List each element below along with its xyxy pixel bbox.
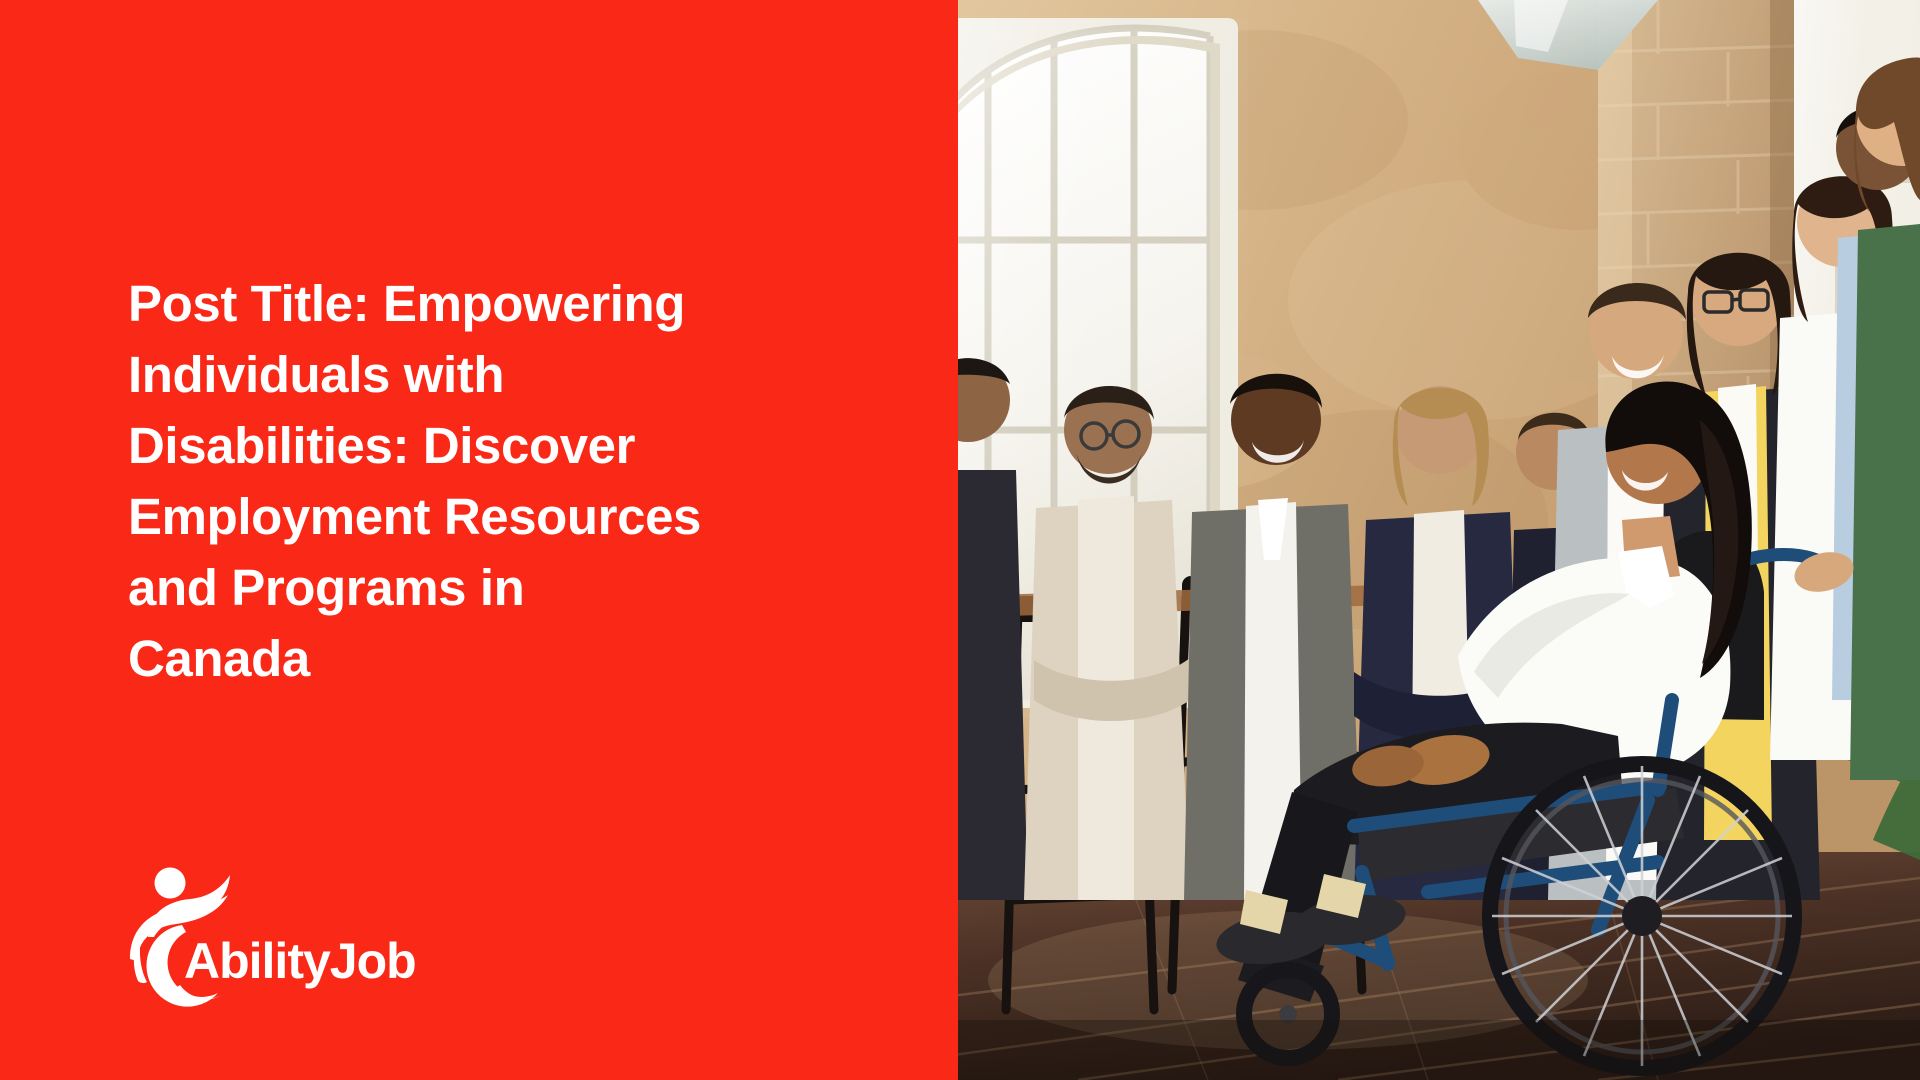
abilityjob-logo[interactable]: AbilityJob — [118, 863, 418, 1008]
wheelchair-figure-icon: AbilityJob — [118, 863, 418, 1008]
left-red-panel: Post Title: Empowering Individuals with … — [0, 0, 958, 1080]
photo-panel — [958, 0, 1920, 1080]
post-banner: Post Title: Empowering Individuals with … — [0, 0, 1920, 1080]
logo-wordmark: AbilityJob — [184, 933, 416, 989]
page-title: Post Title: Empowering Individuals with … — [128, 268, 888, 694]
group-photo — [958, 0, 1920, 1080]
